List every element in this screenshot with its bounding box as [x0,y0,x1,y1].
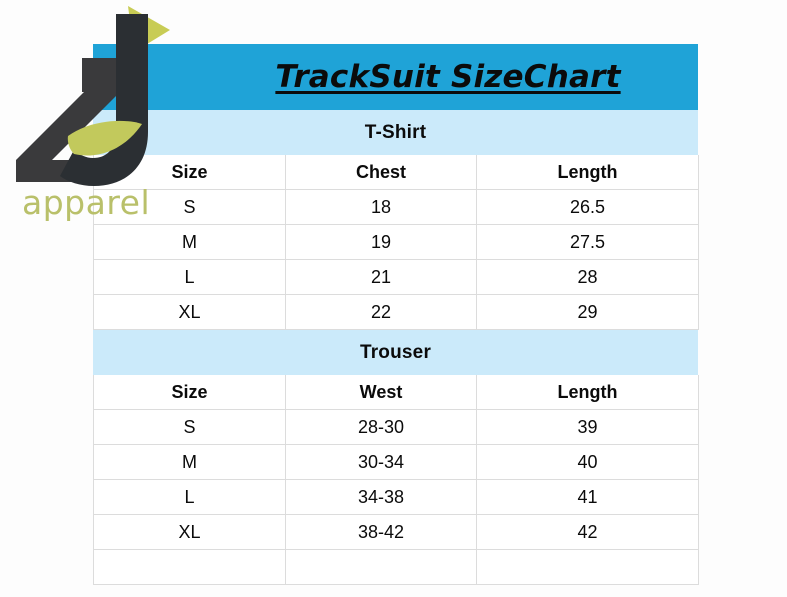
table-row: XL 38-42 42 [94,515,699,550]
table-row: S 28-30 39 [94,410,699,445]
cell-chest: 22 [286,295,477,330]
table-row-partial [94,550,699,585]
table-row: L 34-38 41 [94,480,699,515]
column-header-west: West [286,375,477,410]
cell-empty [477,550,699,585]
cell-west: 34-38 [286,480,477,515]
table-row: L 21 28 [94,260,699,295]
table-header-row: Size West Length [94,375,699,410]
cell-length: 26.5 [477,190,699,225]
section-label-trouser: Trouser [360,342,431,364]
cell-length: 27.5 [477,225,699,260]
cell-chest: 19 [286,225,477,260]
cell-length: 28 [477,260,699,295]
cell-length: 42 [477,515,699,550]
table-trouser: Size West Length S 28-30 39 M 30-34 40 L [93,375,699,585]
cell-size: M [94,445,286,480]
cell-size: XL [94,515,286,550]
cell-size: M [94,225,286,260]
chart-title-band: TrackSuit SizeChart [93,44,698,110]
column-header-length: Length [477,375,699,410]
table-tshirt: Size Chest Length S 18 26.5 M 19 27.5 L [93,155,699,330]
section-header-trouser: Trouser [93,330,698,375]
cell-empty [286,550,477,585]
size-chart: TrackSuit SizeChart T-Shirt Size Chest L… [93,44,698,585]
cell-chest: 18 [286,190,477,225]
cell-length: 41 [477,480,699,515]
size-chart-canvas: apparel TrackSuit SizeChart T-Shirt Size… [0,0,787,597]
section-label-tshirt: T-Shirt [365,122,427,144]
cell-size: S [94,190,286,225]
column-header-chest: Chest [286,155,477,190]
chart-title: TrackSuit SizeChart [170,59,620,95]
cell-west: 30-34 [286,445,477,480]
cell-chest: 21 [286,260,477,295]
table-row: M 19 27.5 [94,225,699,260]
cell-west: 28-30 [286,410,477,445]
column-header-length: Length [477,155,699,190]
table-row: S 18 26.5 [94,190,699,225]
cell-length: 39 [477,410,699,445]
cell-empty [94,550,286,585]
cell-length: 29 [477,295,699,330]
table-header-row: Size Chest Length [94,155,699,190]
table-row: M 30-34 40 [94,445,699,480]
cell-length: 40 [477,445,699,480]
table-row: XL 22 29 [94,295,699,330]
section-header-tshirt: T-Shirt [93,110,698,155]
column-header-size: Size [94,155,286,190]
cell-size: S [94,410,286,445]
cell-west: 38-42 [286,515,477,550]
cell-size: L [94,260,286,295]
cell-size: L [94,480,286,515]
cell-size: XL [94,295,286,330]
column-header-size: Size [94,375,286,410]
